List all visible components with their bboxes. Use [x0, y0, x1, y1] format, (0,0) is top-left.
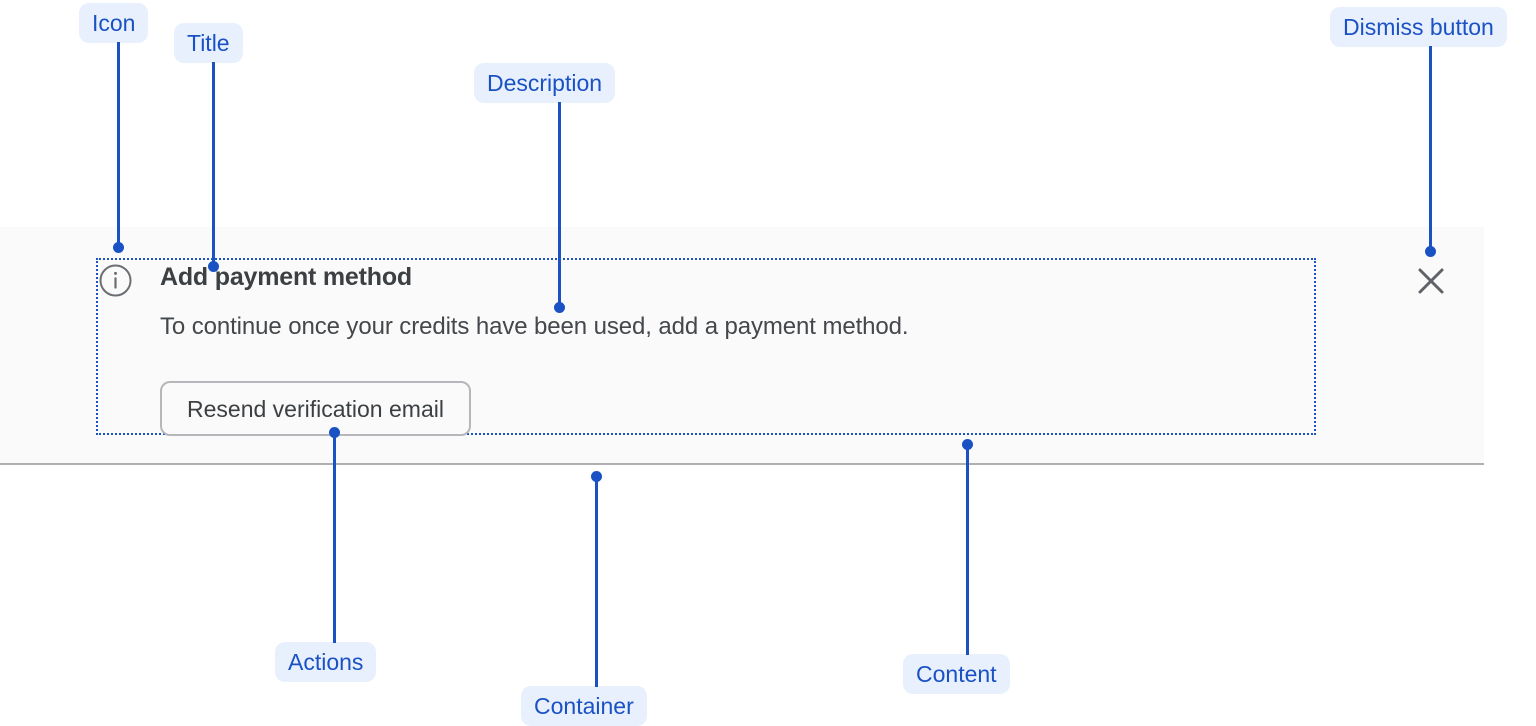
- annotation-dot-title: [208, 261, 219, 272]
- banner-title: Add payment method: [160, 263, 412, 292]
- banner-actions: Resend verification email: [160, 381, 471, 436]
- resend-verification-email-button[interactable]: Resend verification email: [160, 381, 471, 436]
- annotation-label-content: Content: [903, 654, 1010, 694]
- annotation-dot-content: [962, 439, 973, 450]
- close-x-icon[interactable]: [1412, 262, 1450, 300]
- annotation-dot-dismiss: [1425, 246, 1436, 257]
- annotation-dot-actions: [329, 427, 340, 438]
- annotation-leader-actions: [333, 436, 336, 643]
- annotation-label-description: Description: [474, 63, 615, 103]
- annotation-leader-content: [966, 448, 969, 655]
- banner-description: To continue once your credits have been …: [160, 313, 908, 341]
- annotation-dot-container: [591, 471, 602, 482]
- annotation-label-actions: Actions: [275, 642, 376, 682]
- annotation-leader-description: [558, 102, 561, 308]
- annotation-leader-title: [212, 62, 215, 265]
- annotation-leader-icon: [117, 42, 120, 247]
- annotation-leader-dismiss: [1429, 46, 1432, 251]
- annotation-label-container: Container: [521, 686, 647, 726]
- annotation-label-icon: Icon: [79, 3, 148, 43]
- annotation-dot-description: [554, 302, 565, 313]
- annotation-leader-container: [595, 480, 598, 687]
- annotation-dot-icon: [113, 242, 124, 253]
- annotation-label-title: Title: [174, 23, 243, 63]
- info-circle-icon: [99, 264, 132, 297]
- annotation-label-dismiss: Dismiss button: [1330, 7, 1507, 47]
